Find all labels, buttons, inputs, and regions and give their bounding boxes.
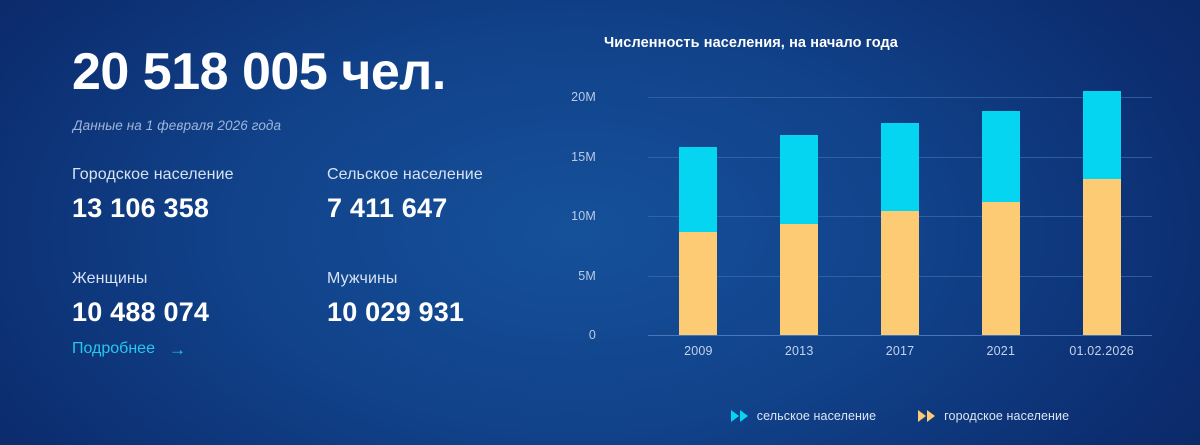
stat-urban-population: Городское население 13 106 358 (72, 165, 327, 222)
bar-segment-urban[interactable] (1083, 179, 1121, 335)
bar-segment-urban[interactable] (780, 224, 818, 335)
y-axis-tick-label: 20M (571, 90, 596, 104)
bar-segment-rural[interactable] (982, 111, 1020, 201)
y-axis-labels: 05M10M15M20M (552, 90, 596, 335)
stat-value: 13 106 358 (72, 195, 327, 222)
bar-segment-urban[interactable] (679, 232, 717, 335)
x-axis-tick-label: 2021 (986, 344, 1015, 358)
double-triangle-icon (918, 410, 935, 422)
legend-label: городское население (944, 409, 1069, 423)
more-details-link[interactable]: Подробнее → (72, 340, 186, 358)
y-axis-tick-label: 10M (571, 209, 596, 223)
legend-label: сельское население (757, 409, 876, 423)
population-chart-panel: Численность населения, на начало года 05… (600, 0, 1200, 445)
bar-segment-urban[interactable] (982, 202, 1020, 335)
stat-row: Женщины 10 488 074 Мужчины 10 029 931 (72, 269, 542, 326)
y-axis-tick-label: 15M (571, 150, 596, 164)
chart-legend: сельское населениегородское население (600, 409, 1200, 423)
y-axis-tick-label: 0 (589, 328, 596, 342)
bar-segment-urban[interactable] (881, 211, 919, 335)
stat-men: Мужчины 10 029 931 (327, 269, 542, 326)
summary-panel: 20 518 005 чел. Данные на 1 февраля 2026… (72, 0, 572, 445)
stat-label: Мужчины (327, 269, 542, 288)
stat-value: 10 029 931 (327, 299, 542, 326)
bar-group-2017[interactable] (881, 90, 919, 335)
x-axis-tick-label: 01.02.2026 (1069, 344, 1134, 358)
more-details-label: Подробнее (72, 340, 155, 358)
total-population-value: 20 518 005 чел. (72, 46, 446, 98)
bar-group-01.02.2026[interactable] (1083, 90, 1121, 335)
chart-title: Численность населения, на начало года (604, 35, 898, 51)
gridline (648, 335, 1152, 336)
population-dashboard: 20 518 005 чел. Данные на 1 февраля 2026… (0, 0, 1200, 445)
stat-rural-population: Сельское население 7 411 647 (327, 165, 542, 222)
stat-value: 10 488 074 (72, 299, 327, 326)
bar-group-2021[interactable] (982, 90, 1020, 335)
statistics-grid: Городское население 13 106 358 Сельское … (72, 165, 542, 326)
stat-label: Женщины (72, 269, 327, 288)
bar-segment-rural[interactable] (679, 147, 717, 231)
x-axis-labels: 200920132017202101.02.2026 (648, 344, 1152, 366)
x-axis-tick-label: 2013 (785, 344, 814, 358)
arrow-right-icon: → (169, 341, 186, 358)
stat-value: 7 411 647 (327, 195, 542, 222)
stat-women: Женщины 10 488 074 (72, 269, 327, 326)
data-date-note: Данные на 1 февраля 2026 года (73, 118, 281, 133)
bar-group-2009[interactable] (679, 90, 717, 335)
stat-label: Сельское население (327, 165, 542, 184)
legend-item[interactable]: городское население (918, 409, 1069, 423)
chart-plot-area (648, 90, 1152, 335)
x-axis-tick-label: 2017 (886, 344, 915, 358)
x-axis-tick-label: 2009 (684, 344, 713, 358)
y-axis-tick-label: 5M (578, 269, 596, 283)
stat-label: Городское население (72, 165, 327, 184)
bar-segment-rural[interactable] (1083, 91, 1121, 179)
legend-item[interactable]: сельское население (731, 409, 876, 423)
bar-segment-rural[interactable] (780, 135, 818, 224)
bar-segment-rural[interactable] (881, 123, 919, 211)
bar-group-2013[interactable] (780, 90, 818, 335)
chart-bars (648, 90, 1152, 335)
stat-row: Городское население 13 106 358 Сельское … (72, 165, 542, 222)
double-triangle-icon (731, 410, 748, 422)
